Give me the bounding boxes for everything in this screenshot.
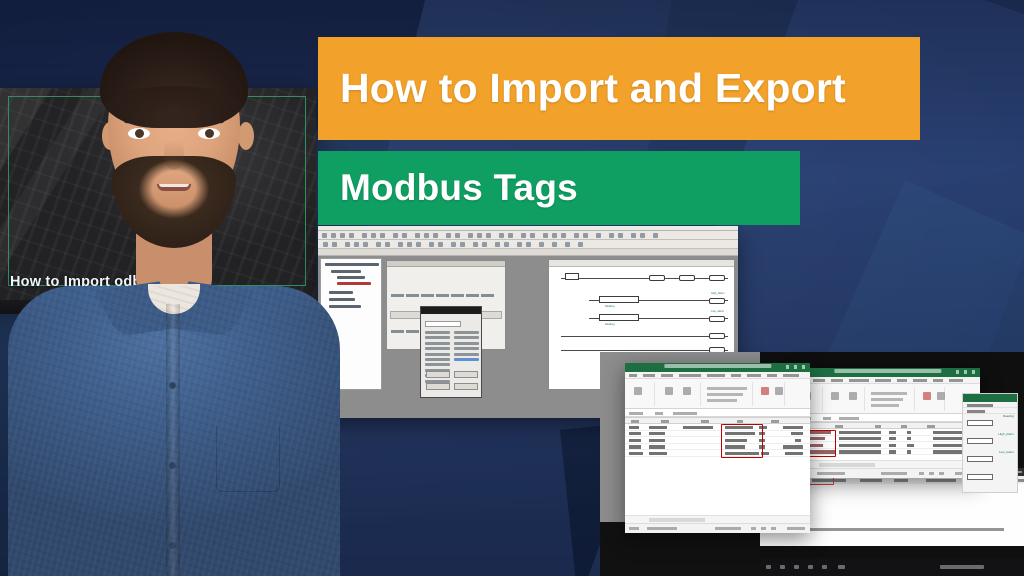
output-checkbox-column-right[interactable]: [454, 331, 479, 363]
excel-sheet-tabs-front[interactable]: [625, 515, 810, 523]
table-row[interactable]: [625, 444, 810, 451]
table-row[interactable]: [625, 450, 810, 457]
excel-ribbon-tabs-front[interactable]: [625, 372, 810, 379]
excel-titlebar-front[interactable]: [625, 363, 810, 372]
plc-toolbar-row-2: [318, 240, 738, 249]
thumbnail-canvas: How to Import odbus: [0, 0, 1024, 576]
title-banner-primary: How to Import and Export: [318, 37, 920, 140]
excel-titlebar-back[interactable]: [795, 368, 980, 377]
output-type-select[interactable]: [425, 321, 461, 327]
excel-sheet-back[interactable]: [795, 422, 980, 464]
ladder-compare-1: [599, 296, 639, 303]
title-banner-secondary: Modbus Tags: [318, 151, 800, 225]
ladder-coil-4: [709, 298, 725, 304]
presenter-ear-right: [238, 122, 254, 150]
table-row[interactable]: [625, 424, 810, 431]
variable-output-titlebar[interactable]: [421, 307, 481, 314]
spreadsheet-note: [810, 528, 1004, 531]
excel-export-window[interactable]: [795, 368, 980, 478]
reset-all-button: [454, 371, 478, 378]
plc-document-tabs[interactable]: [318, 249, 738, 256]
sliver-field-1: [967, 420, 993, 426]
sliver-field-4: [967, 474, 993, 480]
excel-ribbon-back[interactable]: [795, 384, 980, 414]
sliver-field-2: [967, 438, 993, 444]
dialog-address-grid[interactable]: [390, 285, 502, 307]
cancel-button: [426, 383, 450, 390]
dialog-titlebar[interactable]: [387, 261, 505, 267]
presenter-mouth: [157, 184, 191, 191]
presenter-shirt: [8, 286, 340, 576]
presenter-nose: [164, 140, 184, 170]
excel-sheet-front[interactable]: [625, 417, 810, 519]
tag-name-column-highlight-front: [721, 424, 763, 458]
ladder-contact-1: [565, 273, 579, 280]
sliver-field-3: [967, 456, 993, 462]
windows-taskbar[interactable]: [760, 558, 1024, 576]
excel-status-bar-front: [625, 523, 810, 533]
variable-output-dialog[interactable]: [420, 306, 482, 398]
excel-formula-bar-back[interactable]: [795, 414, 980, 422]
denim-texture: [8, 286, 340, 576]
secondary-app-sliver[interactable]: Reading High_Alarm Low_Alarm: [962, 393, 1018, 493]
ladder-coil-5: [709, 316, 725, 322]
ladder-coil-2: [679, 275, 695, 281]
ladder-titlebar[interactable]: [549, 260, 734, 267]
ladder-coil-1: [649, 275, 665, 281]
plc-toolbar-row-1: [318, 231, 738, 240]
close-button: [454, 383, 478, 390]
ladder-coil-6: [709, 333, 725, 339]
presenter: [24, 18, 324, 576]
ladder-coil-3: [709, 275, 725, 281]
title-banner-primary-text: How to Import and Export: [318, 65, 846, 112]
table-row[interactable]: [625, 437, 810, 444]
presenter-hair: [100, 32, 248, 128]
presenter-eye-left: [128, 128, 150, 139]
excel-ribbon-front[interactable]: [625, 379, 810, 409]
excel-formula-bar-front[interactable]: [625, 409, 810, 417]
set-all-button: [426, 371, 450, 378]
excel-import-window[interactable]: [625, 363, 810, 533]
title-banner-secondary-text: Modbus Tags: [318, 167, 578, 209]
excel-ribbon-tabs-back[interactable]: [795, 377, 980, 384]
presenter-eye-right: [198, 128, 220, 139]
sliver-titlebar[interactable]: [963, 394, 1017, 402]
table-row[interactable]: [625, 431, 810, 438]
excel-sheet-tabs-back[interactable]: [795, 460, 980, 468]
excel-status-bar-back: [795, 468, 980, 478]
ladder-compare-2: [599, 314, 639, 321]
